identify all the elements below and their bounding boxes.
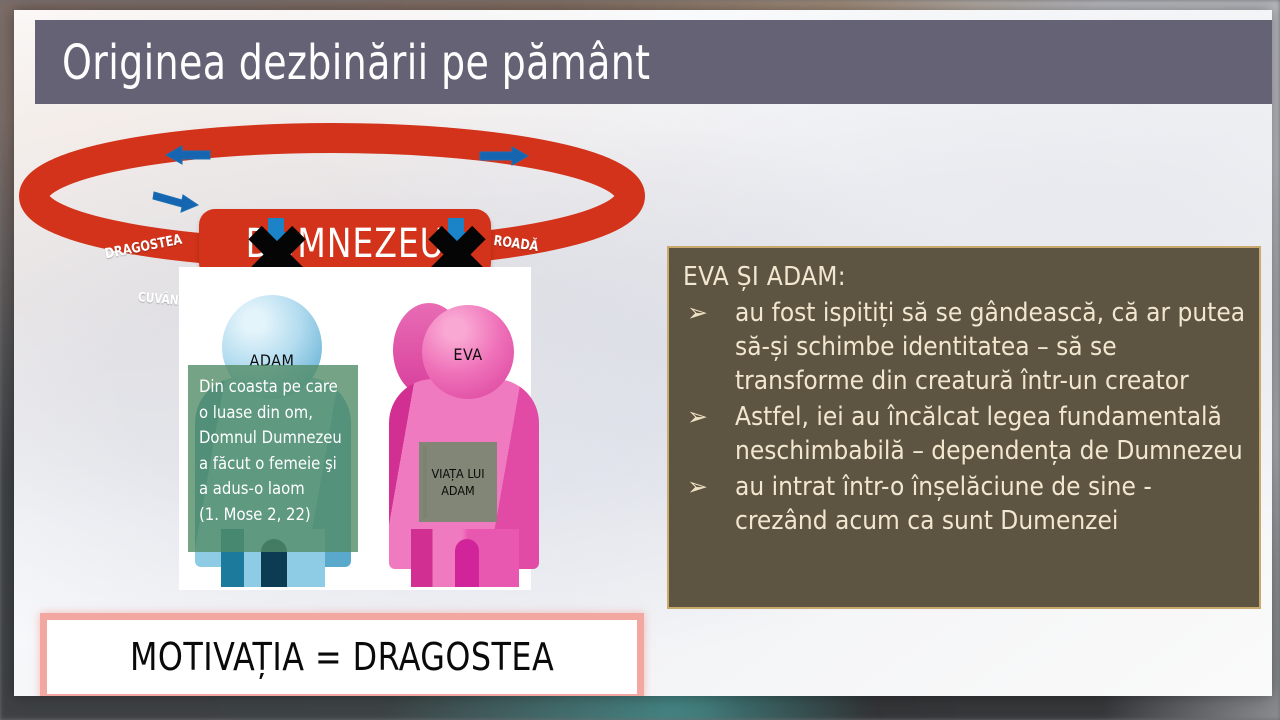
- eva-adam-bullet-panel: EVA ȘI ADAM: ➢ au fost ispitiți să se gâ…: [667, 246, 1261, 609]
- panel-heading: EVA ȘI ADAM:: [683, 260, 1247, 294]
- verse-callout: Din coasta pe care o luase din om, Domnu…: [188, 365, 358, 552]
- god-cycle-diagram: DUMNEZEU DRAGOSTEA ROADĂ CUVÂNTUL LUI DU…: [14, 104, 674, 294]
- arrow-bullet-icon: ➢: [683, 296, 735, 330]
- arrow-bullet-icon: ➢: [683, 470, 735, 504]
- bullet-text: au intrat într-o înșelăciune de sine - c…: [735, 470, 1247, 538]
- bullet-text: Astfel, iei au încălcat legea fundamenta…: [735, 400, 1247, 468]
- bullet-text: au fost ispitiți să se gândească, că ar …: [735, 296, 1247, 398]
- motivation-callout: MOTIVAȚIA = DRAGOSTEA: [40, 613, 644, 696]
- eva-head: EVA: [422, 305, 514, 399]
- list-item: ➢ au intrat într-o înșelăciune de sine -…: [683, 470, 1247, 538]
- verse-text: Din coasta pe care o luase din om, Domnu…: [199, 374, 348, 527]
- eva-placard-text: VIAȚA LUI ADAM: [431, 465, 484, 499]
- list-item: ➢ au fost ispitiți să se gândească, că a…: [683, 296, 1247, 398]
- eva-placard: VIAȚA LUI ADAM: [419, 442, 497, 522]
- eva-legs-gap: [455, 539, 479, 587]
- eva-label: EVA: [422, 345, 514, 364]
- motivation-text: MOTIVAȚIA = DRAGOSTEA: [130, 635, 554, 679]
- page-title: Originea dezbinării pe pământ: [62, 26, 650, 100]
- slide-title-banner: Originea dezbinării pe pământ: [35, 20, 1272, 104]
- arrow-bullet-icon: ➢: [683, 400, 735, 434]
- presentation-slide: Originea dezbinării pe pământ DUMNEZEU D…: [14, 10, 1272, 696]
- list-item: ➢ Astfel, iei au încălcat legea fundamen…: [683, 400, 1247, 468]
